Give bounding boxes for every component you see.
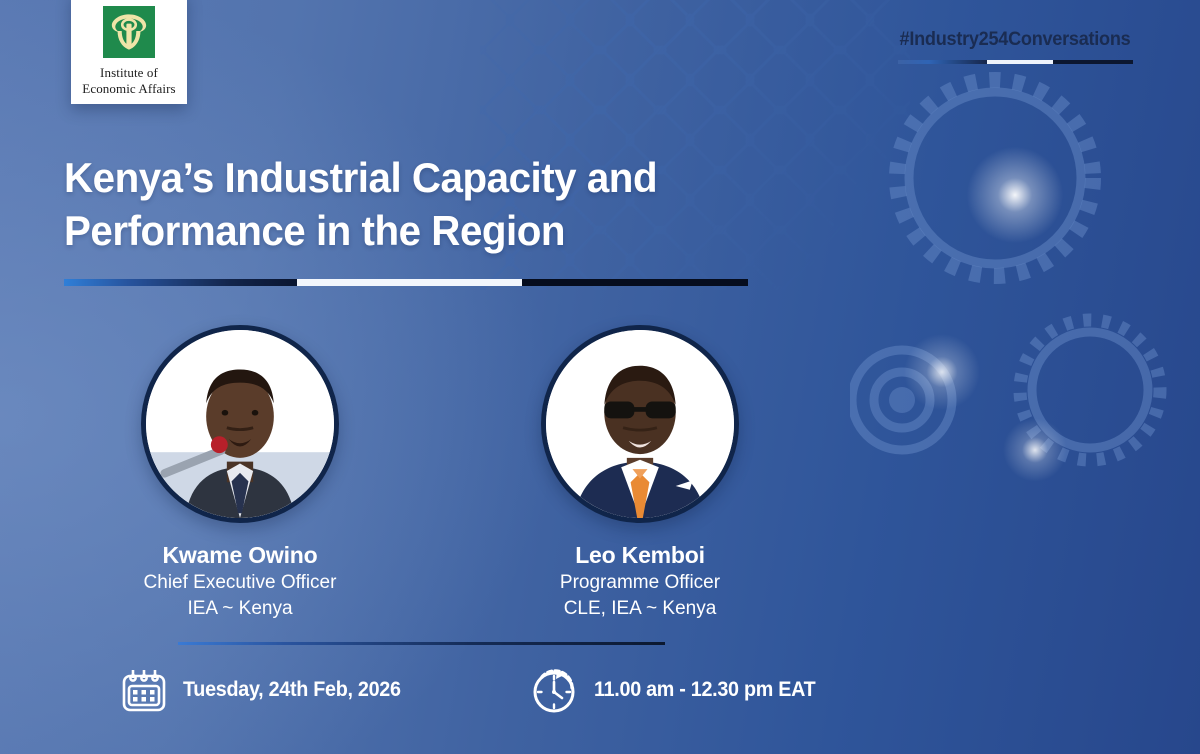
logo-text: Institute of Economic Affairs <box>82 65 175 96</box>
footer-divider <box>178 642 665 645</box>
avatar <box>541 325 739 523</box>
hashtag-block: #Industry254Conversations <box>880 28 1150 64</box>
event-poster: Institute of Economic Affairs #Industry2… <box>0 0 1200 754</box>
rule-segment-dark <box>522 279 748 286</box>
speaker-card: Kwame Owino Chief Executive Officer IEA … <box>40 325 440 621</box>
glow-decoration <box>1000 415 1070 485</box>
rule-segment-white <box>297 279 523 286</box>
calendar-icon <box>118 664 170 716</box>
logo-line-2: Economic Affairs <box>82 81 175 96</box>
portrait-kwame-owino-icon <box>146 330 334 518</box>
page-title: Kenya’s Industrial Capacity and Performa… <box>64 152 842 258</box>
hashtag-text: #Industry254Conversations <box>889 28 1140 51</box>
title-divider <box>64 279 748 286</box>
logo-line-1: Institute of <box>82 65 175 80</box>
speaker-role: Chief Executive Officer <box>144 570 337 595</box>
event-time-block: 11.00 am - 12.30 pm EAT <box>529 664 830 716</box>
speaker-role: Programme Officer <box>560 570 720 595</box>
speaker-org: IEA ~ Kenya <box>187 596 292 621</box>
speaker-name: Kwame Owino <box>163 542 318 568</box>
event-time-text: 11.00 am - 12.30 pm EAT <box>594 678 815 702</box>
rule-segment-white <box>987 60 1053 64</box>
glow-decoration <box>900 330 984 414</box>
iea-emblem-icon <box>103 6 155 58</box>
organization-logo-card: Institute of Economic Affairs <box>71 0 187 104</box>
footer-details: Tuesday, 24th Feb, 2026 11.00 am - 12.30… <box>118 664 829 716</box>
speaker-name: Leo Kemboi <box>575 542 705 568</box>
rule-segment-dark <box>1053 60 1133 64</box>
avatar <box>141 325 339 523</box>
hashtag-underline <box>898 60 1133 64</box>
gear-decoration <box>850 60 1200 480</box>
rule-segment-blue <box>64 279 297 286</box>
speaker-org: CLE, IEA ~ Kenya <box>564 596 717 621</box>
portrait-leo-kemboi-icon <box>546 330 734 518</box>
glow-decoration <box>960 140 1070 250</box>
speaker-card: Leo Kemboi Programme Officer CLE, IEA ~ … <box>440 325 840 621</box>
event-date-block: Tuesday, 24th Feb, 2026 <box>118 664 415 716</box>
speakers-row: Kwame Owino Chief Executive Officer IEA … <box>40 325 840 621</box>
clock-icon <box>529 664 581 716</box>
rule-segment-blue <box>898 60 987 64</box>
event-date-text: Tuesday, 24th Feb, 2026 <box>183 678 401 702</box>
